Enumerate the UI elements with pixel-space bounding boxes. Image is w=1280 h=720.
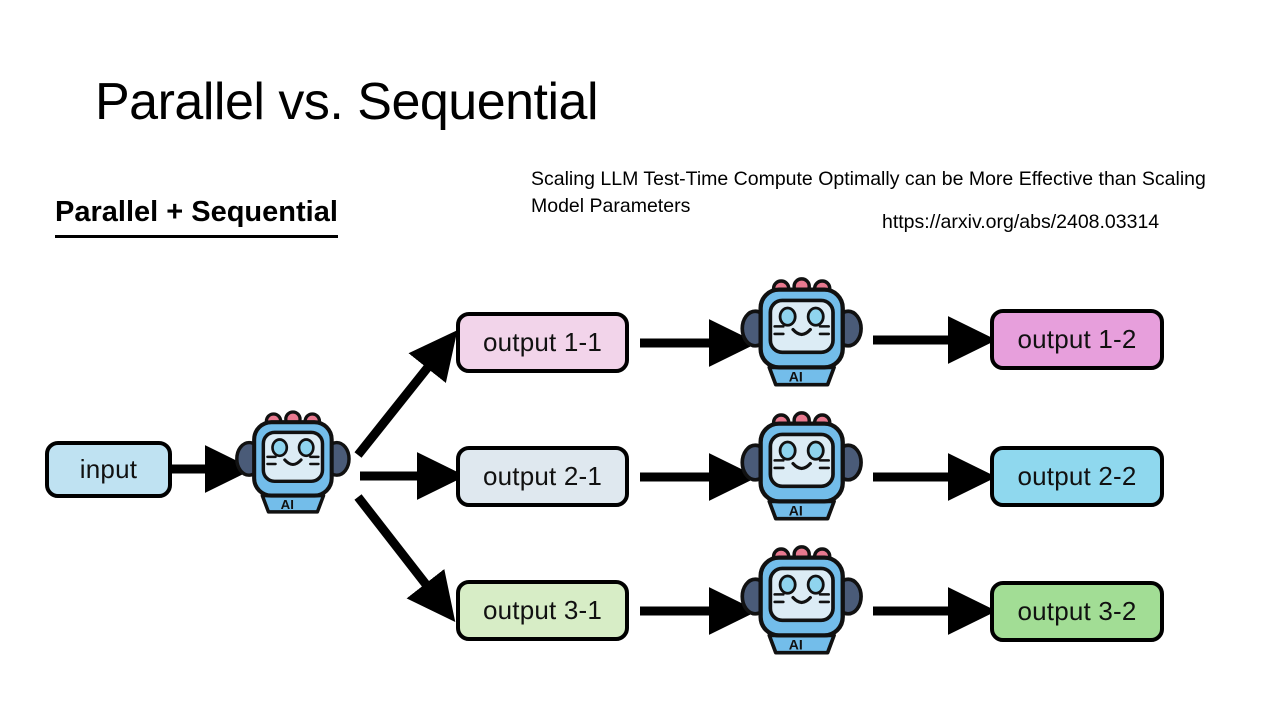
node-output-2-1-label: output 2-1 <box>483 461 602 492</box>
node-output-1-1-label: output 1-1 <box>483 327 602 358</box>
arrow-router-to-output-3-1 <box>358 497 442 605</box>
robot-ai-label: AI <box>281 497 294 512</box>
node-output-1-2[interactable]: output 1-2 <box>990 309 1164 370</box>
node-input[interactable]: input <box>45 441 172 498</box>
node-output-3-1[interactable]: output 3-1 <box>456 580 629 641</box>
arrow-router-to-output-1-1 <box>358 347 444 455</box>
pipeline-diagram: AI AI <box>0 0 1280 720</box>
node-output-3-1-label: output 3-1 <box>483 595 602 626</box>
robot-icon-row-2: AI <box>742 413 861 519</box>
robot-ai-label: AI <box>789 636 803 652</box>
robot-icon-row-1: AI <box>742 279 861 385</box>
node-output-2-2[interactable]: output 2-2 <box>990 446 1164 507</box>
robot-ai-label: AI <box>789 502 803 518</box>
node-output-1-1[interactable]: output 1-1 <box>456 312 629 373</box>
node-output-2-1[interactable]: output 2-1 <box>456 446 629 507</box>
node-input-label: input <box>80 454 137 485</box>
node-output-3-2-label: output 3-2 <box>1017 596 1136 627</box>
robot-ai-label: AI <box>789 368 803 384</box>
node-output-2-2-label: output 2-2 <box>1017 461 1136 492</box>
node-output-3-2[interactable]: output 3-2 <box>990 581 1164 642</box>
robot-icon-row-3: AI <box>742 547 861 653</box>
node-output-1-2-label: output 1-2 <box>1017 324 1136 355</box>
robot-icon-router: AI <box>237 412 349 512</box>
